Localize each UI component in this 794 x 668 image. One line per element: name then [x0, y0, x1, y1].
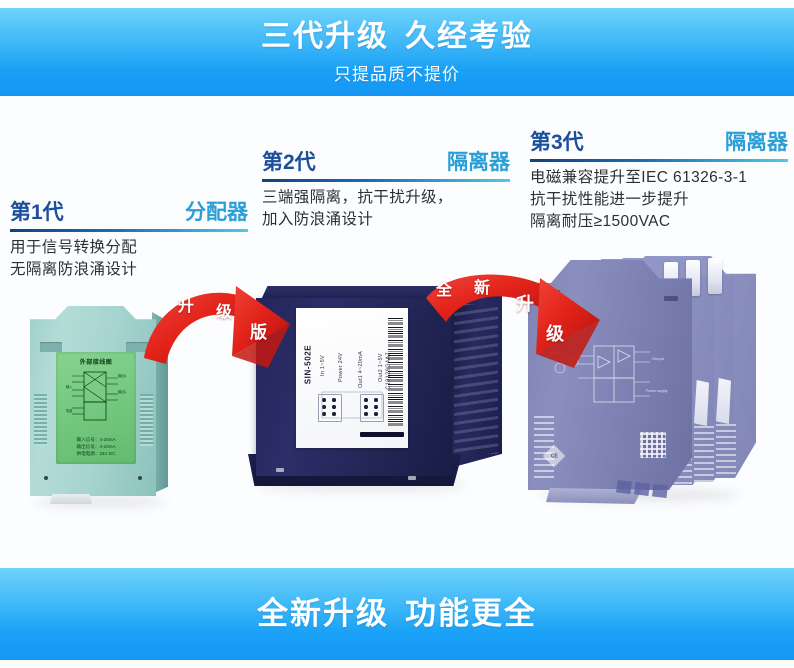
device-3-vent-3: [716, 424, 736, 484]
infographic-stage: 三代升级久经考验 只提品质不提价 第1代 分配器 用于信号转换分配 无隔离防浪涌…: [0, 0, 794, 668]
device-3-top-connector-3: [708, 258, 722, 294]
generation-1-divider: [10, 229, 248, 232]
device-2-marker-left: [276, 468, 284, 472]
generation-2-heading: 第2代 隔离器: [262, 146, 510, 176]
device-1-wiring-label: 外部接线图 输出1 输出2 输入 电源: [56, 352, 136, 464]
generation-3-divider: [530, 159, 788, 162]
bottom-banner-title-right: 功能更全: [405, 596, 537, 631]
device-2-serial-number: C19129G4A7: [386, 352, 392, 390]
device-2-pin-out2: Out2 1~5V: [378, 353, 384, 382]
device-1-spec-list: 输入信号：4-20mA 输出信号：4-20mA 供电电源：24V DC: [62, 437, 130, 458]
top-banner-title-right: 久经考验: [405, 20, 533, 53]
device-3-power-label: Power supply: [646, 389, 668, 393]
top-banner-title: 三代升级久经考验: [261, 20, 533, 53]
top-banner: 三代升级久经考验 只提品质不提价: [0, 8, 794, 96]
upgrade-arrow-1: 升 级 版: [140, 272, 320, 390]
upgrade-arrow-1-graphic: [140, 272, 320, 390]
generation-2-text-block: 第2代 隔离器 三端强隔离，抗干扰升级， 加入防浪涌设计: [262, 146, 510, 231]
device-1-wiring-diagram: 输出1 输出2 输入 电源: [66, 368, 126, 426]
device-3-slot-top-right: [664, 296, 678, 301]
bottom-banner: 全新升级功能更全: [0, 568, 794, 660]
device-1-spec-power: 供电电源：24V DC: [62, 451, 130, 458]
device-3-rail-tab-2: [634, 482, 650, 496]
generation-1-number: 第1代: [10, 196, 64, 226]
device-3-vent-2: [694, 426, 714, 486]
generation-2-line-1: 三端强隔离，抗干扰升级，: [262, 187, 510, 209]
top-banner-title-left: 三代升级: [261, 20, 389, 53]
device-1-output-2-label: 输出2: [118, 389, 126, 394]
generation-1-type: 分配器: [185, 196, 248, 226]
device-2-pin-in: In 1~5V: [320, 355, 326, 376]
device-2-vent-slot: [360, 432, 404, 437]
device-2-pin-out1: Out1 4~20mA: [358, 351, 364, 388]
generation-1-text-block: 第1代 分配器 用于信号转换分配 无隔离防浪涌设计: [10, 196, 248, 281]
upgrade-arrow-2-graphic: [424, 262, 620, 388]
device-1-input-label: 输入: [66, 384, 73, 389]
generation-3-text-block: 第3代 隔离器 电磁兼容提升至IEC 61326-3-1 抗干扰性能进一步提升 …: [530, 126, 788, 233]
upgrade-arrow-2: 全 新 升 级: [424, 262, 620, 388]
device-1-vent-left: [34, 394, 47, 446]
top-banner-subtitle: 只提品质不提价: [334, 60, 460, 85]
generation-3-number: 第3代: [530, 126, 584, 156]
bottom-banner-title: 全新升级功能更全: [257, 597, 537, 631]
generation-3-line-1: 电磁兼容提升至IEC 61326-3-1: [530, 167, 788, 189]
device-3-rail-tab-3: [652, 484, 668, 498]
device-1-screw-left: [44, 476, 48, 480]
device-3-rail-tab-1: [616, 480, 632, 494]
generation-3-heading: 第3代 隔离器: [530, 126, 788, 156]
device-2-pin-power: Power 24V: [338, 353, 344, 382]
bottom-banner-title-left: 全新升级: [257, 596, 389, 631]
generation-3-type: 隔离器: [725, 126, 788, 156]
generation-1-line-1: 用于信号转换分配: [10, 237, 248, 259]
device-1-screw-right: [138, 476, 142, 480]
generation-2-line-2: 加入防浪涌设计: [262, 209, 510, 231]
device-3-output-label: Output: [652, 356, 665, 361]
generation-3-line-3: 隔离耐压≥1500VAC: [530, 211, 788, 233]
generation-3-description: 电磁兼容提升至IEC 61326-3-1 抗干扰性能进一步提升 隔离耐压≥150…: [530, 167, 788, 233]
device-1-vent-right: [140, 394, 153, 446]
generation-2-type: 隔离器: [447, 146, 510, 176]
generation-2-divider: [262, 179, 510, 182]
device-2-marker-right: [408, 476, 416, 480]
generation-3-line-2: 抗干扰性能进一步提升: [530, 189, 788, 211]
device-1-slot-left: [40, 342, 62, 352]
device-1-output-1-label: 输出1: [118, 373, 126, 378]
device-1-rail-clip: [50, 494, 92, 504]
generation-2-description: 三端强隔离，抗干扰升级， 加入防浪涌设计: [262, 187, 510, 231]
device-3-qr-code: [640, 432, 666, 458]
generation-2-number: 第2代: [262, 146, 316, 176]
device-3-certification-text: CE: [551, 453, 558, 459]
generation-1-heading: 第1代 分配器: [10, 196, 248, 226]
device-1-wiring-label-title: 外部接线图: [56, 357, 136, 366]
device-1-power-label: 电源: [66, 408, 73, 413]
device-2-label-schematic: [316, 386, 388, 430]
